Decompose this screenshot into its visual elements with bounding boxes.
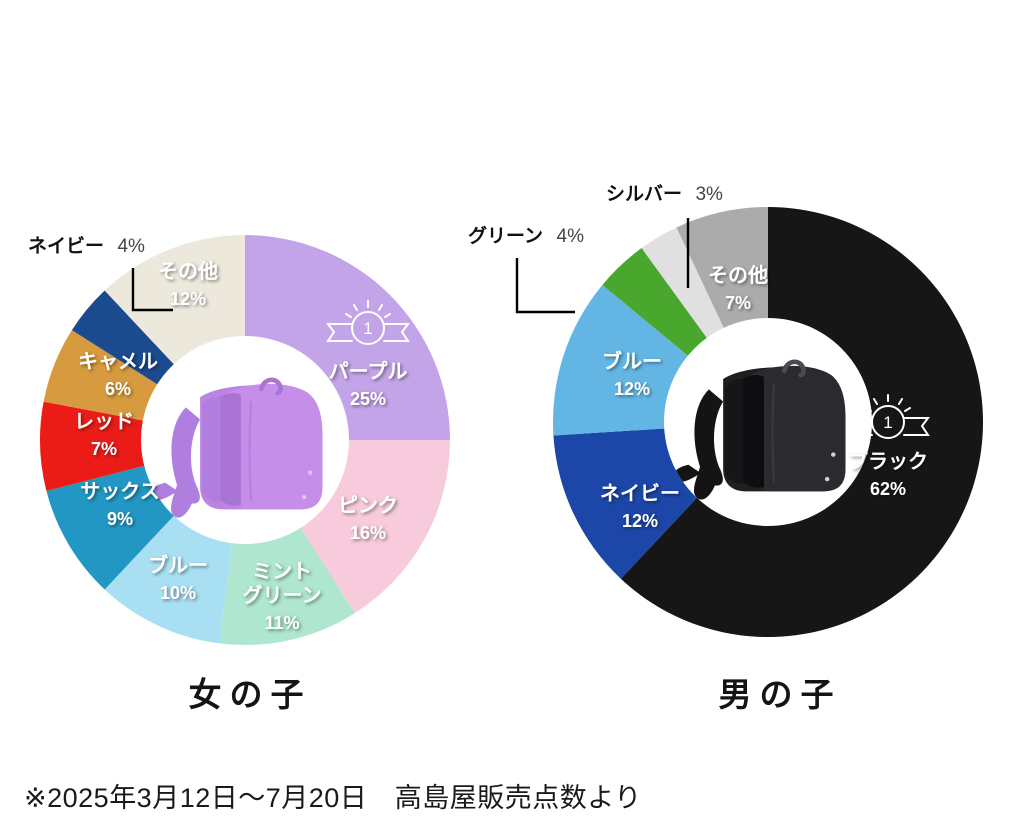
callout-navy-name: ネイビー — [28, 235, 104, 257]
rank-1-badge-number: 1 — [363, 319, 372, 338]
boys-donut-svg: 1 ブラック62%ネイビー12%ブルー12%その他7% シルバー 3% グリーン — [540, 170, 1010, 680]
source-caption: ※2025年3月12日〜7月20日 高島屋販売点数より — [24, 776, 642, 815]
callout-silver-name: シルバー — [606, 183, 682, 205]
callout-navy-pct: 4% — [117, 236, 145, 257]
callout-navy-text: ネイビー 4% — [28, 235, 145, 257]
infographic-canvas: 1 パープル25%ピンク16%ミントグリーン11%ブルー10%サックス9%レッド… — [0, 0, 1024, 832]
callout-green-pct: 4% — [557, 226, 585, 247]
boys-donut-chart: 1 ブラック62%ネイビー12%ブルー12%その他7% シルバー 3% グリーン — [540, 170, 1010, 680]
callout-silver-pct: 3% — [695, 184, 723, 205]
rank-1-badge-number: 1 — [883, 413, 892, 432]
boys-chart-title: 男の子 — [530, 668, 1024, 716]
callout-green-name: グリーン — [468, 224, 543, 247]
callout-silver-text: シルバー 3% — [606, 183, 723, 205]
callout-green-leader-line — [517, 258, 575, 312]
callout-green: グリーン 4% — [468, 224, 584, 312]
callout-green-text: グリーン 4% — [468, 224, 584, 247]
girls-donut-svg: 1 パープル25%ピンク16%ミントグリーン11%ブルー10%サックス9%レッド… — [20, 190, 480, 690]
girls-chart-title: 女の子 — [0, 668, 500, 716]
girls-donut-chart: 1 パープル25%ピンク16%ミントグリーン11%ブルー10%サックス9%レッド… — [20, 190, 480, 690]
